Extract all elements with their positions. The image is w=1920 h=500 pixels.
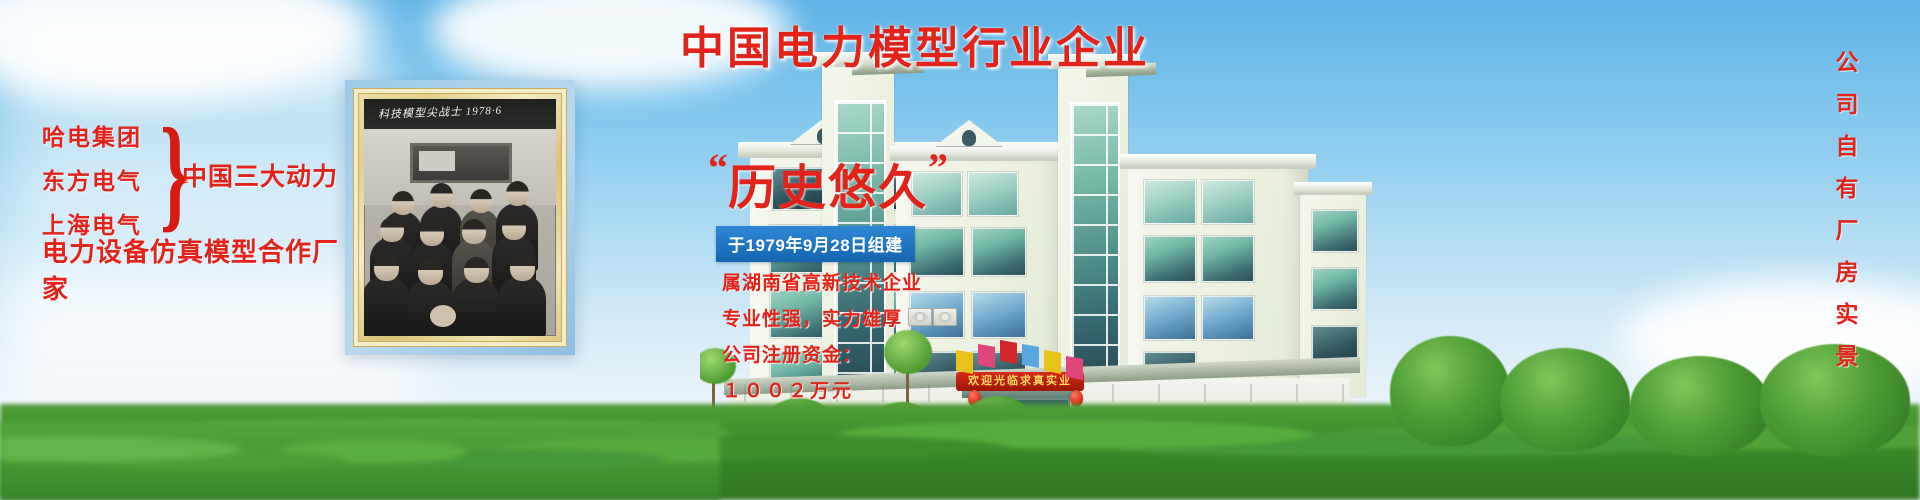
photo-frame-gold-border: 科技模型尖战士 1978·6	[353, 88, 567, 347]
partner-brand-list: 哈电集团 东方电气 上海电气	[42, 115, 142, 247]
left-copy-block: 哈电集团 东方电气 上海电气 } 中国三大动力 电力设备仿真模型合作厂家	[0, 0, 360, 500]
historic-group-photo: 科技模型尖战士 1978·6	[364, 99, 556, 336]
brand-item-2: 东方电气	[42, 159, 142, 203]
fact-line-2: 专业性强，实力雄厚	[722, 304, 902, 331]
tower-glass-curtain	[1070, 102, 1120, 394]
history-quote: “历史悠久”	[708, 148, 948, 218]
fact-line-1: 属湖南省高新技术企业	[722, 268, 922, 295]
photo-wall-board	[410, 143, 512, 183]
window	[1144, 236, 1196, 282]
quote-open-icon: “	[708, 145, 728, 190]
photo-person-head	[374, 255, 399, 281]
three-power-label: 中国三大动力	[182, 157, 338, 193]
historic-photo-frame: 科技模型尖战士 1978·6	[345, 80, 575, 355]
decorative-flag	[1000, 340, 1017, 364]
photo-person-head	[510, 255, 535, 281]
decorative-flag	[1066, 356, 1083, 380]
window	[1202, 180, 1254, 224]
company-history-banner: 欢迎光临求真实业 中国电力模型行业企业 哈电集团 东方电气	[0, 0, 1920, 500]
photo-person-head	[420, 221, 444, 246]
photo-person-head	[462, 219, 486, 244]
window	[1312, 268, 1358, 310]
photo-person-head	[380, 217, 404, 242]
photo-person-head	[430, 183, 453, 208]
window	[1144, 296, 1196, 340]
photo-person	[452, 277, 500, 336]
decorative-flag	[1044, 350, 1061, 374]
photo-person-head	[392, 191, 414, 215]
fact-line-3: 公司注册资金：	[722, 340, 862, 367]
partner-factory-line: 电力设备仿真模型合作厂家	[42, 232, 360, 306]
tree-foliage	[1630, 356, 1770, 456]
photo-person-hands	[430, 305, 456, 327]
founding-date-ribbon: 于1979年9月28日组建	[716, 226, 915, 262]
photo-person-head	[502, 215, 526, 240]
photo-person-head	[464, 257, 489, 283]
building-roof	[1294, 182, 1372, 195]
history-quote-text: 历史悠久	[728, 162, 928, 215]
window	[1202, 296, 1254, 340]
photo-person	[364, 275, 410, 336]
decorative-flag	[1022, 344, 1039, 368]
brand-item-1: 哈电集团	[42, 115, 142, 159]
registered-capital-value: １００２万元	[722, 376, 854, 403]
photo-person-head	[470, 189, 492, 213]
window	[1144, 180, 1196, 224]
photo-person	[498, 275, 546, 336]
history-copy-column: “历史悠久” 于1979年9月28日组建 属湖南省高新技术企业 专业性强，实力雄…	[700, 0, 1000, 500]
building-roof	[1120, 154, 1316, 169]
tree-foliage	[1500, 348, 1630, 452]
photo-person-head	[506, 181, 529, 206]
own-factory-vertical-label: 公司自有厂房实景	[1828, 50, 1862, 386]
window	[1202, 236, 1254, 282]
window	[1312, 210, 1358, 252]
tree-foliage	[1390, 336, 1510, 446]
photo-person-head	[418, 259, 443, 285]
quote-close-icon: ”	[928, 145, 948, 190]
